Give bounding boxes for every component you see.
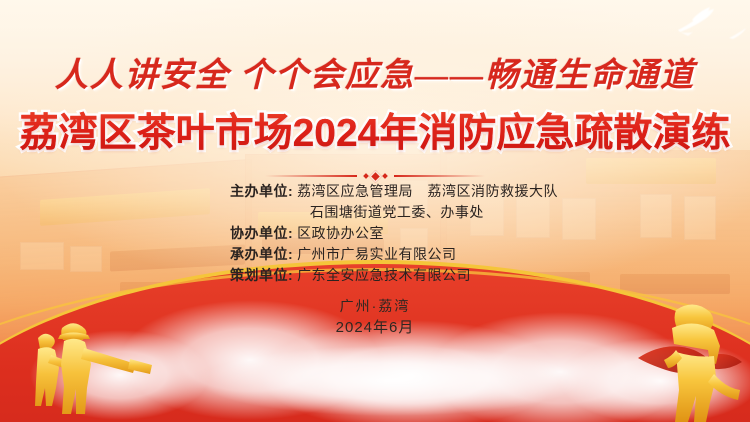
organizer-label: 主办单位: [230, 183, 293, 199]
poster-content: 人人讲安全 个个会应急——畅通生命通道 荔湾区茶叶市场2024年消防应急疏散演练… [0, 0, 750, 422]
diamond-dot-icon [363, 173, 369, 179]
organizer-row: 承办单位: 广州市广易实业有限公司 [0, 244, 750, 265]
divider-line-right [394, 175, 486, 177]
footer-date: 2024年6月 [0, 317, 750, 339]
organizer-value: 广州市广易实业有限公司 [297, 246, 457, 262]
organizer-row: 石围塘街道党工委、办事处 [0, 202, 750, 223]
page-title: 荔湾区茶叶市场2024年消防应急疏散演练 [0, 102, 750, 158]
organizer-list: 主办单位: 荔湾区应急管理局 荔湾区消防救援大队 石围塘街道党工委、办事处 协办… [0, 181, 750, 286]
diamond-dot-icon [382, 173, 388, 179]
diamond-ornament-icon [364, 172, 387, 181]
organizer-value: 广东全安应急技术有限公司 [297, 267, 471, 283]
organizer-label: 承办单位: [230, 246, 293, 262]
organizer-row: 主办单位: 荔湾区应急管理局 荔湾区消防救援大队 [0, 181, 750, 202]
organizer-value: 石围塘街道党工委、办事处 [310, 204, 484, 220]
slogan-line: 人人讲安全 个个会应急——畅通生命通道 [0, 48, 750, 96]
organizer-value: 荔湾区应急管理局 荔湾区消防救援大队 [297, 183, 558, 199]
organizer-label: 策划单位: [230, 267, 293, 283]
poster-canvas: 人人讲安全 个个会应急——畅通生命通道 荔湾区茶叶市场2024年消防应急疏散演练… [0, 0, 750, 422]
organizer-value: 区政协办公室 [297, 225, 384, 241]
divider-line-left [265, 175, 357, 177]
poster-footer: 广州·荔湾 2024年6月 [0, 295, 750, 339]
organizer-label: 协办单位: [230, 225, 293, 241]
organizer-row: 协办单位: 区政协办公室 [0, 223, 750, 244]
footer-place: 广州·荔湾 [0, 295, 750, 317]
organizer-row: 策划单位: 广东全安应急技术有限公司 [0, 265, 750, 286]
